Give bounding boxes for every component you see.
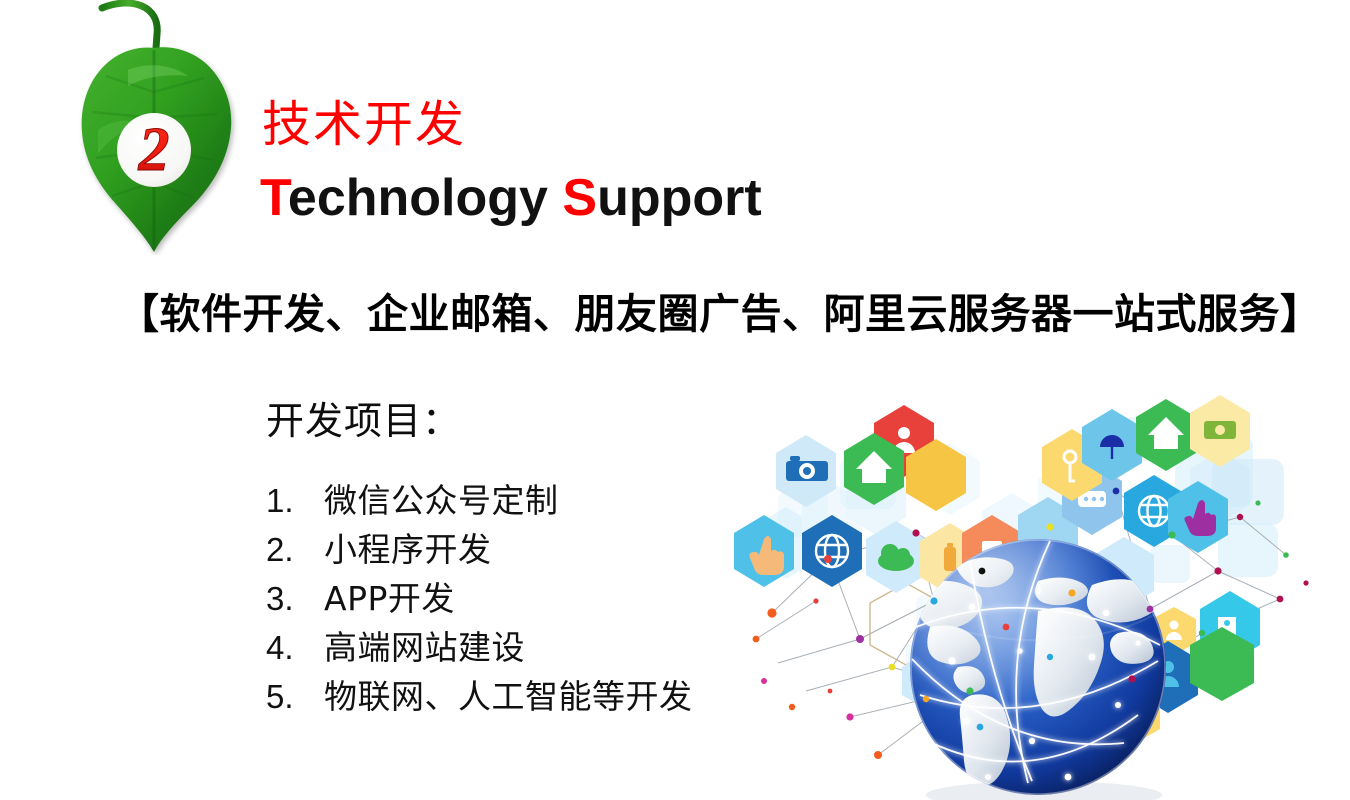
list-item: 5. 物联网、人工智能等开发 [266, 672, 736, 721]
list-item-number: 4. [266, 623, 324, 672]
global-network-illustration [720, 395, 1350, 800]
page-title-chinese: 技术开发 [262, 100, 466, 149]
leaf-badge-logo: 2 [62, 0, 252, 255]
list-item-label: 高端网站建设 [324, 623, 525, 672]
network-globe-graphic [720, 395, 1350, 800]
page-title-english: Technology Support [260, 172, 762, 224]
list-item: 2. 小程序开发 [266, 525, 736, 574]
title-en-word-upport: upport [597, 169, 762, 227]
list-item: 3. APP开发 [266, 574, 736, 623]
globe-graphic [910, 539, 1166, 800]
badge-number: 2 [138, 116, 170, 184]
list-item: 4. 高端网站建设 [266, 623, 736, 672]
list-item: 1. 微信公众号定制 [266, 476, 736, 525]
list-item-number: 2. [266, 525, 324, 574]
list-item-label: 微信公众号定制 [324, 476, 559, 525]
title-en-word-echnology: echnology [288, 169, 562, 227]
section-heading-projects: 开发项目： [266, 402, 461, 440]
leaf-icon: 2 [62, 0, 252, 255]
title-en-letter-s: S [562, 169, 597, 227]
project-list: 1. 微信公众号定制 2. 小程序开发 3. APP开发 4. 高端网站建设 5… [266, 476, 736, 721]
subtitle-services: 【软件开发、企业邮箱、朋友圈广告、阿里云服务器一站式服务】 [118, 290, 1322, 339]
list-item-label: 小程序开发 [324, 525, 492, 574]
title-en-letter-t: T [260, 169, 288, 227]
list-item-label: 物联网、人工智能等开发 [324, 672, 693, 721]
list-item-number: 5. [266, 672, 324, 721]
list-item-label: APP开发 [324, 574, 455, 623]
list-item-number: 3. [266, 574, 324, 623]
list-item-number: 1. [266, 476, 324, 525]
slide-root: 2 技术开发 Technology Support 【软件开发、企业邮箱、朋友圈… [0, 0, 1350, 800]
money-icon [1204, 421, 1236, 439]
